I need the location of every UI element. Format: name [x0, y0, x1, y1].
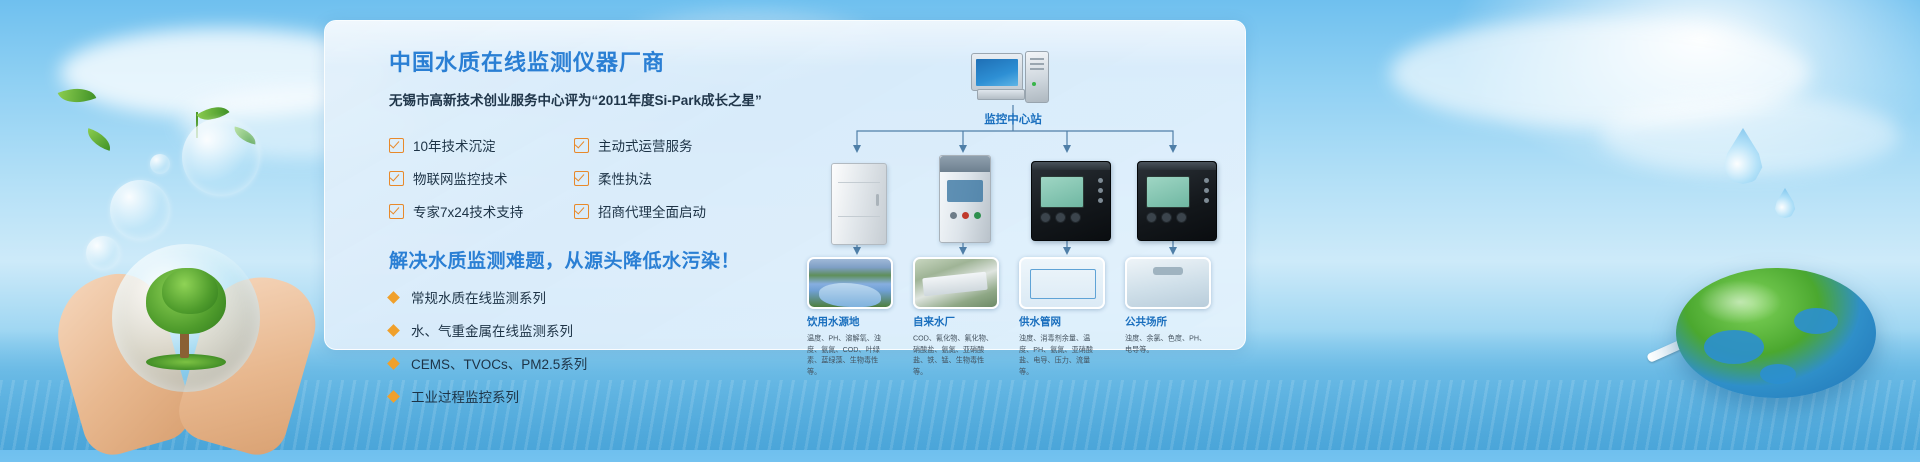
feature-item: 物联网监控技术 [389, 168, 574, 188]
monitor-screen [976, 59, 1018, 86]
bubble-icon [110, 180, 170, 240]
left-text-column: 中国水质在线监测仪器厂商 无锡市高新技术创业服务中心评为“2011年度Si-Pa… [389, 45, 779, 419]
power-led-icon [1032, 82, 1036, 86]
list-item: 常规水质在线监测系列 [389, 287, 779, 307]
rack-icon [939, 155, 991, 243]
feature-label: 主动式运营服务 [598, 135, 693, 155]
site-description: 浊度、消毒剂余量、温度、PH、氨氮、亚硝酸盐、电导、压力、流量等。 [1019, 333, 1103, 377]
center-station-label: 监控中心站 [933, 111, 1093, 127]
tree-crown-top-icon [162, 268, 218, 314]
diamond-bullet-icon [387, 357, 400, 370]
earth-water-patch [1704, 330, 1764, 364]
feature-item: 10年技术沉淀 [389, 135, 574, 155]
feature-item: 柔性执法 [574, 168, 759, 188]
site-thumbnail-public-place [1125, 257, 1211, 309]
keyboard-icon [977, 89, 1025, 100]
section-subheading: 解决水质监测难题，从源头降低水污染！ [389, 246, 779, 273]
site-description: 浊度、余氯、色度、PH、电导等。 [1125, 333, 1209, 355]
product-line-label: CEMS、TVOCs、PM2.5系列 [411, 353, 587, 373]
main-content-panel: 中国水质在线监测仪器厂商 无锡市高新技术创业服务中心评为“2011年度Si-Pa… [324, 20, 1246, 350]
feature-label: 专家7x24技术支持 [413, 201, 523, 221]
feature-item: 招商代理全面启动 [574, 201, 759, 221]
list-item: CEMS、TVOCs、PM2.5系列 [389, 353, 779, 373]
site-description: 温度、PH、溶解氧、浊度、氨氮、COD、叶绿素、蓝绿藻、生物毒性等。 [807, 333, 891, 377]
feature-label: 柔性执法 [598, 168, 652, 188]
site-title: 供水管网 [1019, 314, 1107, 329]
diamond-bullet-icon [387, 390, 400, 403]
earth-water-patch [1760, 364, 1796, 384]
checkbox-icon [389, 204, 404, 219]
checkbox-icon [574, 171, 589, 186]
feature-label: 招商代理全面启动 [598, 201, 706, 221]
feature-item: 主动式运营服务 [574, 135, 759, 155]
bubble-icon [150, 154, 170, 174]
site-thumbnail-drinking-water-source [807, 257, 893, 309]
site-description: COD、氰化物、氟化物、硝酸盐、氨氮、亚硝酸盐、铁、锰、生物毒性等。 [913, 333, 997, 377]
checkbox-icon [389, 138, 404, 153]
diamond-bullet-icon [387, 324, 400, 337]
site-thumbnail-water-plant [913, 257, 999, 309]
list-item: 工业过程监控系列 [389, 386, 779, 406]
site-card: 饮用水源地 温度、PH、溶解氧、浊度、氨氮、COD、叶绿素、蓝绿藻、生物毒性等。 [807, 257, 895, 380]
product-line-label: 工业过程监控系列 [411, 386, 519, 406]
list-item: 水、气重金属在线监测系列 [389, 320, 779, 340]
bubble-icon [182, 118, 260, 196]
monitoring-center-computer-icon [971, 51, 1055, 103]
feature-checklist: 10年技术沉淀 主动式运营服务 物联网监控技术 柔性执法 专家7x24技术支持 … [389, 135, 759, 234]
product-line-label: 水、气重金属在线监测系列 [411, 320, 573, 340]
device-controller-a [1027, 155, 1113, 247]
green-earth-icon [1676, 268, 1876, 398]
monitor-icon [971, 53, 1023, 91]
site-card: 公共场所 浊度、余氯、色度、PH、电导等。 [1125, 257, 1213, 356]
pc-tower-icon [1025, 51, 1049, 103]
product-line-list: 常规水质在线监测系列 水、气重金属在线监测系列 CEMS、TVOCs、PM2.5… [389, 287, 779, 406]
page-title: 中国水质在线监测仪器厂商 [389, 45, 779, 77]
controller-icon [1031, 161, 1111, 241]
earth-water-patch [1794, 308, 1838, 334]
site-card: 自来水厂 COD、氰化物、氟化物、硝酸盐、氨氮、亚硝酸盐、铁、锰、生物毒性等。 [913, 257, 1001, 380]
product-line-label: 常规水质在线监测系列 [411, 287, 546, 307]
hands-holding-tree-illustration [60, 240, 310, 450]
controller-icon [1137, 161, 1217, 241]
feature-label: 10年技术沉淀 [413, 135, 496, 155]
site-title: 自来水厂 [913, 314, 1001, 329]
checkbox-icon [389, 171, 404, 186]
site-thumbnail-pipe-network [1019, 257, 1105, 309]
device-analyzer-rack [923, 151, 1009, 243]
cabinet-icon [831, 163, 887, 245]
site-title: 公共场所 [1125, 314, 1213, 329]
feature-label: 物联网监控技术 [413, 168, 508, 188]
site-title: 饮用水源地 [807, 314, 895, 329]
device-controller-b [1133, 155, 1219, 247]
site-card: 供水管网 浊度、消毒剂余量、温度、PH、氨氮、亚硝酸盐、电导、压力、流量等。 [1019, 257, 1107, 380]
page-subtitle: 无锡市高新技术创业服务中心评为“2011年度Si-Park成长之星” [389, 89, 779, 109]
earth-highlight [1698, 280, 1782, 324]
checkbox-icon [574, 204, 589, 219]
monitoring-topology-diagram: 监控中心站 [795, 35, 1235, 335]
device-water-cabinet [817, 153, 903, 245]
checkbox-icon [574, 138, 589, 153]
diamond-bullet-icon [387, 291, 400, 304]
feature-item: 专家7x24技术支持 [389, 201, 574, 221]
